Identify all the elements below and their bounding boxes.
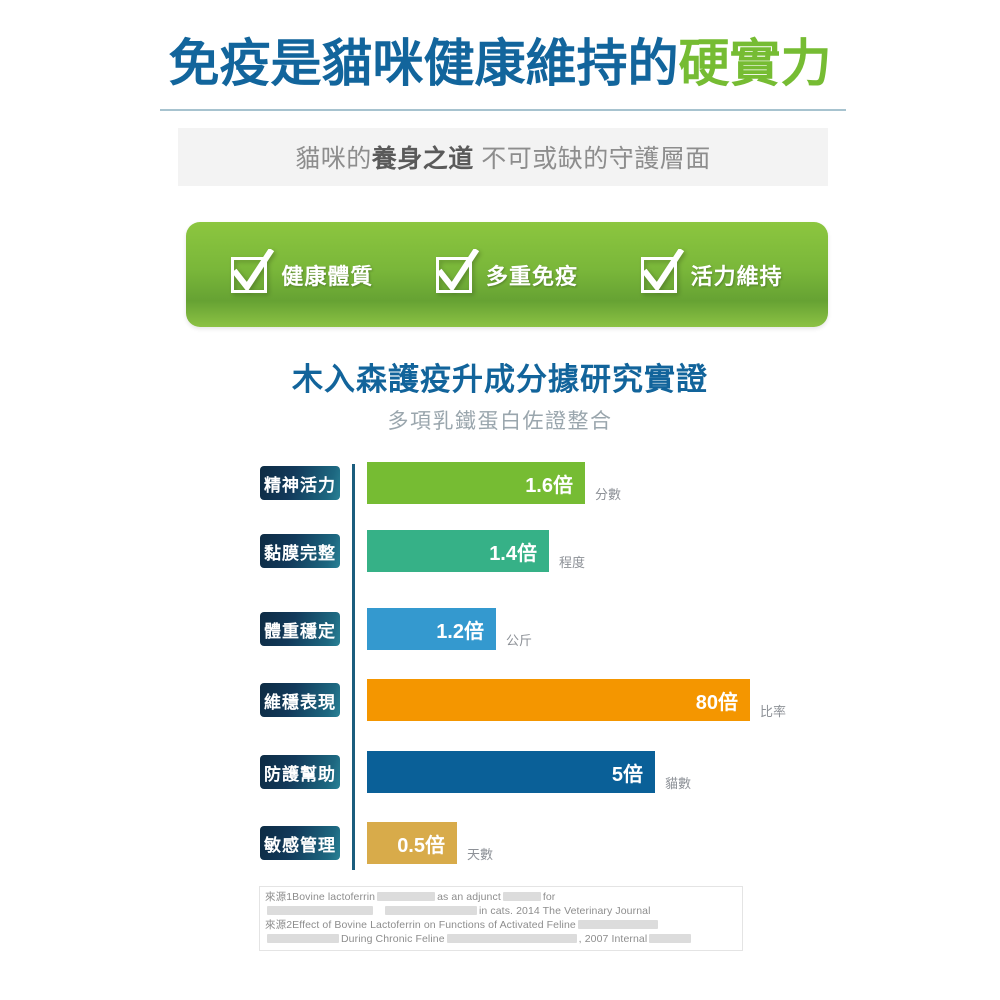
bar-category-label: 黏膜完整	[260, 534, 340, 568]
bar-unit-label: 分數	[595, 484, 621, 503]
redacted-block	[447, 934, 577, 943]
horizontal-bar-chart: 精神活力 1.6倍 分數 黏膜完整 1.4倍 程度 體重穩定 1.2倍 公斤 維…	[260, 462, 840, 872]
subtitle-prefix: 貓咪的	[295, 145, 372, 173]
bar-category-label: 體重穩定	[260, 612, 340, 646]
footnote-text: as an adjunct	[437, 891, 501, 903]
chart-axis-line	[352, 464, 355, 870]
footnote-text: in cats. 2014 The Veterinary Journal	[479, 905, 651, 917]
feature-item-2: 活力維持	[641, 257, 783, 293]
redacted-block	[503, 892, 541, 901]
bar-category-label: 防護幫助	[260, 755, 340, 789]
bar-category-label: 維穩表現	[260, 683, 340, 717]
footnote-line-2: in cats. 2014 The Veterinary Journal	[265, 904, 737, 918]
feature-label-0: 健康體質	[281, 259, 373, 291]
footnote-text: for	[543, 891, 556, 903]
bar-category-label: 敏感管理	[260, 826, 340, 860]
bar-value-label: 0.5倍	[397, 829, 445, 858]
bar-unit-label: 天數	[467, 844, 493, 863]
bar-4: 5倍	[367, 751, 655, 793]
bar-unit-label: 比率	[760, 701, 786, 720]
footnote-text: Effect of Bovine Lactoferrin on Function…	[292, 919, 576, 931]
footnote-line-3: 來源2Effect of Bovine Lactoferrin on Funct…	[265, 918, 737, 932]
chart-title: 木入森護疫升成分據研究實證	[0, 354, 1000, 399]
checkbox-checked-icon	[436, 257, 472, 293]
feature-banner: 健康體質 多重免疫 活力維持	[186, 222, 828, 327]
subtitle-emphasis: 養身之道	[372, 145, 474, 173]
bar-value-label: 1.4倍	[489, 537, 537, 566]
redacted-block	[649, 934, 691, 943]
table-row: 精神活力 1.6倍 分數	[260, 462, 840, 504]
bar-2: 1.2倍	[367, 608, 496, 650]
table-row: 黏膜完整 1.4倍 程度	[260, 530, 840, 572]
feature-label-1: 多重免疫	[486, 259, 578, 291]
bar-5: 0.5倍	[367, 822, 457, 864]
chart-subtitle: 多項乳鐵蛋白佐證整合	[0, 405, 1000, 435]
footnote-text: During Chronic Feline	[341, 933, 445, 945]
bar-unit-label: 公斤	[506, 630, 532, 649]
header-divider	[160, 109, 846, 111]
table-row: 維穩表現 80倍 比率	[260, 679, 840, 721]
headline-primary-text: 免疫是貓咪健康維持的	[168, 35, 678, 92]
redacted-block	[385, 906, 477, 915]
bar-0: 1.6倍	[367, 462, 585, 504]
redacted-block	[267, 906, 373, 915]
subtitle-text: 貓咪的養身之道 不可或缺的守護層面	[295, 139, 710, 175]
subtitle-band: 貓咪的養身之道 不可或缺的守護層面	[178, 128, 828, 186]
bar-3: 80倍	[367, 679, 750, 721]
footnote-source1-label: 來源1	[265, 891, 292, 903]
bar-unit-label: 貓數	[665, 773, 691, 792]
redacted-block	[267, 934, 339, 943]
bar-value-label: 1.6倍	[525, 469, 573, 498]
footnote-line-1: 來源1Bovine lactoferrinas an adjunctfor	[265, 890, 737, 904]
footnotes-box: 來源1Bovine lactoferrinas an adjunctfor in…	[259, 886, 743, 951]
bar-value-label: 80倍	[696, 686, 738, 715]
table-row: 體重穩定 1.2倍 公斤	[260, 608, 840, 650]
subtitle-suffix: 不可或缺的守護層面	[474, 145, 711, 173]
bar-value-label: 5倍	[612, 758, 643, 787]
redacted-block	[377, 892, 435, 901]
table-row: 敏感管理 0.5倍 天數	[260, 822, 840, 864]
headline-accent-text: 硬實力	[679, 35, 832, 92]
footnote-source2-label: 來源2	[265, 919, 292, 931]
bar-category-label: 精神活力	[260, 466, 340, 500]
feature-item-1: 多重免疫	[436, 257, 578, 293]
bar-unit-label: 程度	[559, 552, 585, 571]
bar-value-label: 1.2倍	[436, 615, 484, 644]
checkbox-checked-icon	[231, 257, 267, 293]
page-headline: 免疫是貓咪健康維持的硬實力	[0, 38, 1000, 89]
redacted-block	[578, 920, 658, 929]
bar-1: 1.4倍	[367, 530, 549, 572]
table-row: 防護幫助 5倍 貓數	[260, 751, 840, 793]
footnote-text: , 2007 Internal	[579, 933, 648, 945]
feature-item-0: 健康體質	[231, 257, 373, 293]
footnote-text: Bovine lactoferrin	[292, 891, 375, 903]
checkbox-checked-icon	[641, 257, 677, 293]
feature-label-2: 活力維持	[691, 259, 783, 291]
footnote-line-4: During Chronic Feline, 2007 Internal	[265, 932, 737, 946]
